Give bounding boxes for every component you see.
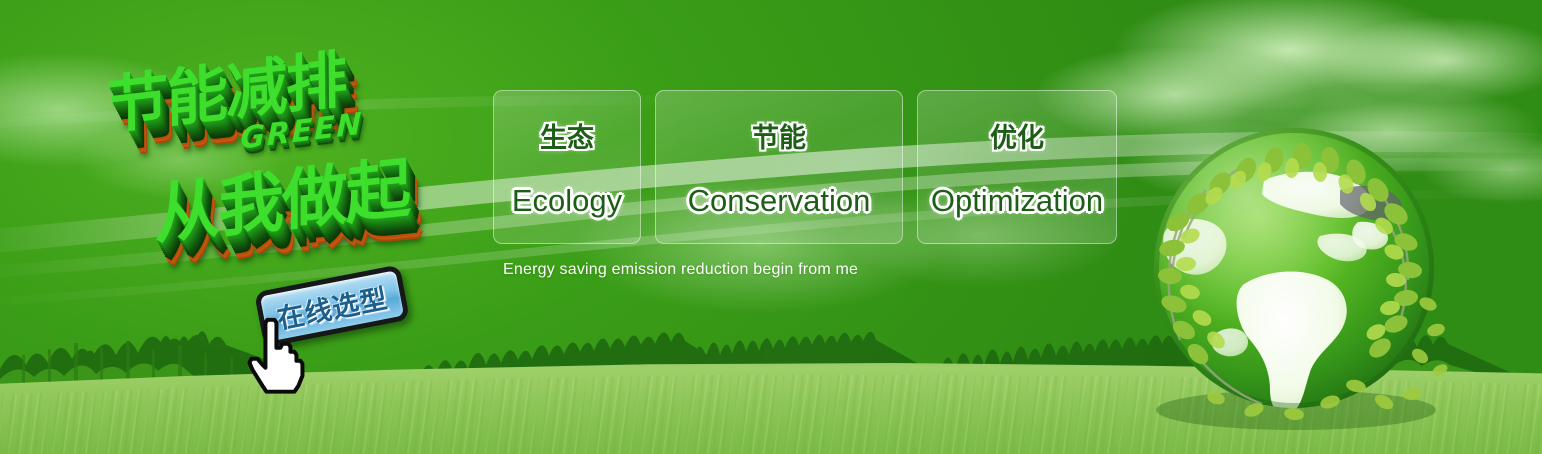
feature-card-list: 生态 Ecology 节能 Conservation 优化 Optimizati… — [493, 90, 1117, 244]
online-selection-button[interactable]: 在线选型 — [254, 264, 410, 347]
feature-card-cn-label: 节能 — [752, 116, 806, 155]
feature-card-en-label: Optimization — [931, 183, 1103, 219]
green-energy-banner: 节能减排 GREEN 从我做起 在线选型 生态 Ecology 节能 Conse… — [0, 0, 1542, 454]
headline-line-1: 节能减排 — [106, 28, 345, 146]
headline-green-word: GREEN — [240, 106, 364, 156]
feature-card-cn-label: 生态 — [540, 116, 594, 155]
headline-line-2: 从我做起 — [155, 134, 410, 257]
feature-card-en-label: Ecology — [512, 183, 622, 219]
feature-card-optimization[interactable]: 优化 Optimization — [917, 90, 1117, 244]
tagline: Energy saving emission reduction begin f… — [503, 261, 858, 279]
online-selection-label: 在线选型 — [273, 276, 390, 336]
feature-card-ecology[interactable]: 生态 Ecology — [493, 90, 641, 244]
feature-card-en-label: Conservation — [688, 183, 871, 219]
online-selection-cta[interactable]: 在线选型 — [254, 264, 410, 347]
feature-card-cn-label: 优化 — [990, 116, 1044, 155]
feature-card-conservation[interactable]: 节能 Conservation — [655, 90, 903, 244]
leafy-earth-globe-icon — [1144, 118, 1450, 424]
page-title: 节能减排 GREEN 从我做起 — [92, 36, 492, 276]
